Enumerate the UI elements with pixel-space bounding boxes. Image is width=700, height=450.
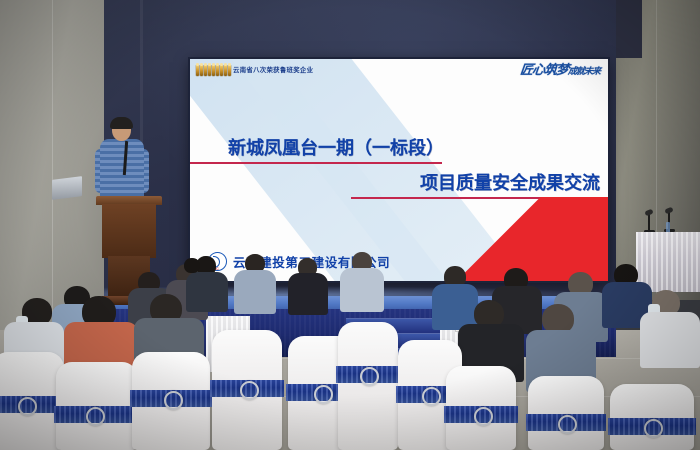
chair-sash-ring — [422, 387, 441, 406]
attendee-torso — [640, 312, 700, 368]
wall-upper-dark-panel — [612, 0, 642, 58]
chair-back — [528, 376, 604, 450]
chair — [132, 352, 210, 450]
presenter-hair — [110, 117, 133, 129]
award-badge-text: 云南省八次荣获鲁班奖企业 — [233, 65, 313, 76]
chair-sash-ring — [558, 415, 577, 434]
medal-icon — [196, 65, 199, 76]
medal-icon — [212, 65, 215, 76]
chair — [446, 366, 516, 450]
medal-icon — [224, 65, 227, 76]
chair-sash-ring — [86, 407, 105, 426]
attendee-torso — [288, 273, 328, 315]
chair — [212, 330, 282, 450]
chair-sash-ring — [240, 381, 259, 400]
brand-calligraphy-logo: 匠心筑梦成就未来 — [519, 62, 601, 81]
brand-calligraphy-suffix: 成就未来 — [567, 67, 600, 77]
attendee-head — [184, 258, 200, 273]
attendee-torso — [186, 272, 228, 312]
chair-back — [338, 322, 398, 450]
chair — [610, 384, 694, 450]
chair — [0, 352, 64, 450]
chair — [338, 322, 398, 450]
medal-icon — [208, 65, 211, 76]
presenter — [98, 119, 146, 205]
chair-back — [610, 384, 694, 450]
projection-screen: 云南省八次荣获鲁班奖企业 匠心筑梦成就未来 新城凤凰台一期（一标段） 项目质量安… — [190, 59, 608, 281]
attendee-torso — [340, 268, 384, 312]
slide-red-triangle — [392, 197, 608, 281]
chair-sash-ring — [360, 367, 379, 386]
slide-title-line-2: 项目质量安全成果交流 — [420, 172, 600, 194]
slide-title-rule-1 — [190, 162, 442, 164]
medal-icon — [200, 65, 203, 76]
luban-medal-icons — [196, 65, 231, 76]
presenter-torso — [100, 139, 144, 201]
laptop-on-podium — [52, 176, 82, 200]
chair — [56, 362, 138, 450]
chair-sash-ring — [164, 391, 183, 410]
chair-sash-ring — [18, 397, 37, 416]
medal-icon — [216, 65, 219, 76]
medal-icon — [220, 65, 223, 76]
medal-icon — [228, 65, 231, 76]
screenshot-root: 云南省八次荣获鲁班奖企业 匠心筑梦成就未来 新城凤凰台一期（一标段） 项目质量安… — [0, 0, 700, 450]
brand-calligraphy-main: 匠心筑梦 — [519, 63, 569, 78]
slide-header: 云南省八次荣获鲁班奖企业 匠心筑梦成就未来 — [190, 59, 608, 85]
chair — [528, 376, 604, 450]
slide-title-line-1: 新城凤凰台一期（一标段） — [228, 137, 444, 159]
chair-sash-ring — [644, 419, 663, 438]
attendee-torso — [234, 270, 276, 314]
podium-body — [102, 204, 156, 258]
chair-sash-ring — [314, 385, 333, 404]
chair-sash-ring — [474, 407, 493, 426]
medal-icon — [204, 65, 207, 76]
